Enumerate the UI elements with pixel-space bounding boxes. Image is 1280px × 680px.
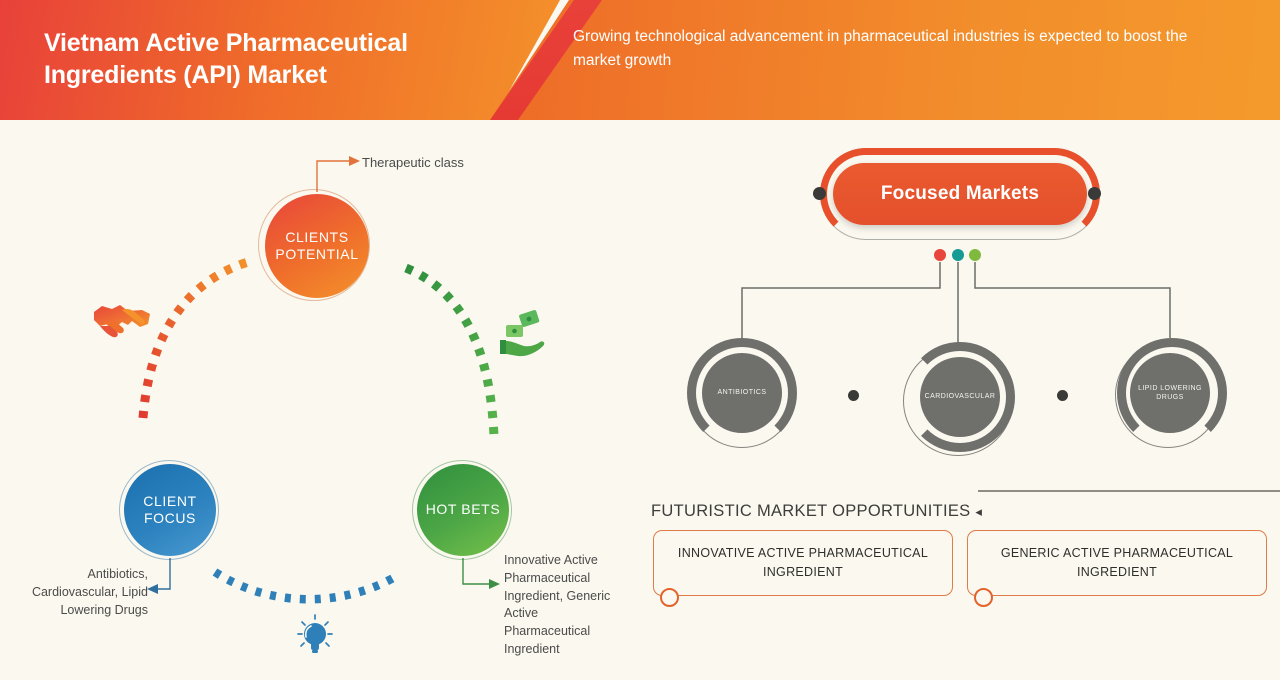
opportunity-box-generic-api[interactable]: GENERIC ACTIVE PHARMACEUTICAL INGREDIENT <box>967 530 1267 596</box>
handshake-icon <box>94 305 150 337</box>
pin-teal[interactable] <box>952 249 964 261</box>
connector-client-focus-detail <box>147 558 170 594</box>
header-subtitle: Growing technological advancement in pha… <box>573 25 1233 73</box>
connector-therapeutic-class <box>317 156 360 192</box>
dotted-arc-blue <box>215 572 400 599</box>
node-hot-bets[interactable]: HOT BETS <box>417 464 509 556</box>
money-hand-icon <box>500 310 544 357</box>
dotted-arc-orange <box>143 262 248 418</box>
opportunities-section-title: FUTURISTIC MARKET OPPORTUNITIES ◂ <box>651 502 982 521</box>
pin-green[interactable] <box>969 249 981 261</box>
left-caret-icon: ◂ <box>975 504 982 519</box>
label-hot-bets-detail: Innovative Active Pharmaceutical Ingredi… <box>504 552 622 659</box>
lipid-label: LIPID LOWERING DRUGS <box>1130 353 1210 433</box>
opportunity-box-innovative-api[interactable]: INNOVATIVE ACTIVE PHARMACEUTICAL INGREDI… <box>653 530 953 596</box>
focused-markets-dot-right <box>1088 187 1101 200</box>
node-clients-potential[interactable]: CLIENTS POTENTIAL <box>265 194 369 298</box>
page-title: Vietnam Active Pharmaceutical Ingredient… <box>44 28 514 91</box>
dotted-arc-green <box>406 268 494 436</box>
cardiovascular-label: CARDIOVASCULAR <box>920 357 1000 437</box>
opportunity-marker-1 <box>660 588 679 607</box>
focused-markets-dot-left <box>813 187 826 200</box>
header-banner: Vietnam Active Pharmaceutical Ingredient… <box>0 0 1280 120</box>
pin-red[interactable] <box>934 249 946 261</box>
separator-dot-2 <box>1057 390 1068 401</box>
lightbulb-icon <box>298 615 332 653</box>
antibiotics-label: ANTIBIOTICS <box>702 353 782 433</box>
connector-hot-bets-detail <box>463 558 500 589</box>
opportunity-marker-2 <box>974 588 993 607</box>
node-client-focus[interactable]: CLIENT FOCUS <box>124 464 216 556</box>
label-therapeutic-class: Therapeutic class <box>362 154 464 172</box>
opportunities-title-text: FUTURISTIC MARKET OPPORTUNITIES <box>651 502 970 520</box>
opportunities-rule <box>978 490 1280 492</box>
infographic-page: Vietnam Active Pharmaceutical Ingredient… <box>0 0 1280 680</box>
separator-dot-1 <box>848 390 859 401</box>
market-connector-lines <box>742 262 1170 348</box>
focused-markets-title[interactable]: Focused Markets <box>833 163 1087 225</box>
label-client-focus-detail: Antibiotics, Cardiovascular, Lipid Lower… <box>8 566 148 619</box>
